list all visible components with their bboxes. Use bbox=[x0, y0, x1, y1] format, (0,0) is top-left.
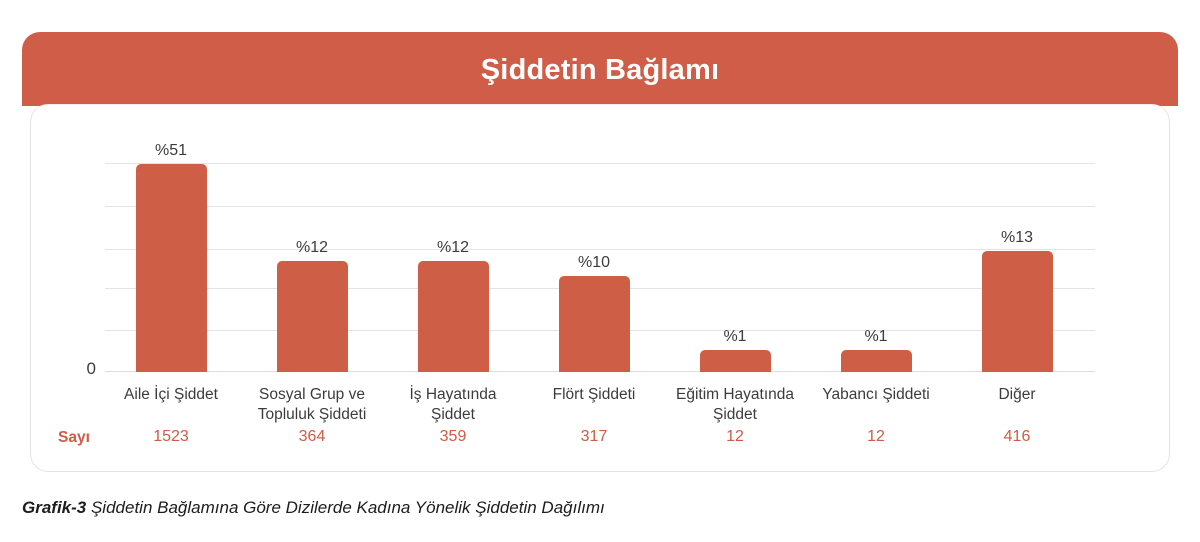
count-value: 416 bbox=[954, 429, 1080, 445]
bar-rect[interactable] bbox=[136, 164, 207, 372]
bar-value-label: %10 bbox=[578, 255, 610, 271]
x-axis-tick-label: Flört Şiddeti bbox=[524, 385, 664, 405]
bar-rect[interactable] bbox=[841, 350, 912, 372]
x-axis-tick-label: İş Hayatında Şiddet bbox=[383, 385, 523, 425]
bar-group[interactable]: %13 bbox=[954, 139, 1080, 372]
count-value: 12 bbox=[672, 429, 798, 445]
x-axis-tick-line: İş Hayatında bbox=[383, 385, 523, 405]
x-axis-tick-label: Aile İçi Şiddet bbox=[101, 385, 241, 405]
bar-group[interactable]: %1 bbox=[672, 139, 798, 372]
bar-value-label: %13 bbox=[1001, 230, 1033, 246]
count-value: 317 bbox=[531, 429, 657, 445]
bar-group[interactable]: %12 bbox=[390, 139, 516, 372]
bar-value-label: %1 bbox=[864, 329, 887, 345]
x-axis-tick-line: Topluluk Şiddeti bbox=[242, 405, 382, 425]
bar-value-label: %1 bbox=[723, 329, 746, 345]
chart-figure: Şiddetin Bağlamı 0 %51 %12 %12 %10 %1 bbox=[0, 0, 1200, 542]
count-value: 1523 bbox=[108, 429, 234, 445]
x-axis-tick-line: Eğitim Hayatında bbox=[665, 385, 805, 405]
page-title: Şiddetin Bağlamı bbox=[481, 56, 719, 85]
bar-group[interactable]: %10 bbox=[531, 139, 657, 372]
count-value: 359 bbox=[390, 429, 516, 445]
x-axis-tick-label: Eğitim Hayatında Şiddet bbox=[665, 385, 805, 425]
x-axis-tick-line: Yabancı Şiddeti bbox=[806, 385, 946, 405]
bar-rect[interactable] bbox=[559, 276, 630, 372]
count-row-label: Sayı bbox=[58, 430, 90, 446]
count-row: 1523 364 359 317 12 12 416 bbox=[105, 429, 1095, 451]
bar-group[interactable]: %12 bbox=[249, 139, 375, 372]
x-axis-tick-label: Sosyal Grup ve Topluluk Şiddeti bbox=[242, 385, 382, 425]
bar-rect[interactable] bbox=[418, 261, 489, 372]
x-axis-tick-line: Şiddet bbox=[665, 405, 805, 425]
bar-value-label: %12 bbox=[296, 240, 328, 256]
bar-series: %51 %12 %12 %10 %1 %1 %13 bbox=[105, 140, 1095, 373]
x-axis-tick-label: Diğer bbox=[947, 385, 1087, 405]
x-axis-tick-line: Şiddet bbox=[383, 405, 523, 425]
x-axis-labels: Aile İçi Şiddet Sosyal Grup ve Topluluk … bbox=[105, 385, 1095, 433]
x-axis-tick-line: Aile İçi Şiddet bbox=[101, 385, 241, 405]
bar-rect[interactable] bbox=[700, 350, 771, 372]
caption-text: Şiddetin Bağlamına Göre Dizilerde Kadına… bbox=[86, 498, 604, 517]
bar-value-label: %51 bbox=[155, 143, 187, 159]
bar-group[interactable]: %1 bbox=[813, 139, 939, 372]
bar-value-label: %12 bbox=[437, 240, 469, 256]
caption-number: Grafik-3 bbox=[22, 498, 86, 517]
count-value: 12 bbox=[813, 429, 939, 445]
x-axis-tick-line: Diğer bbox=[947, 385, 1087, 405]
y-axis-zero-label: 0 bbox=[74, 360, 96, 377]
bar-group[interactable]: %51 bbox=[108, 139, 234, 372]
bar-rect[interactable] bbox=[982, 251, 1053, 372]
bar-rect[interactable] bbox=[277, 261, 348, 372]
figure-caption: Grafik-3 Şiddetin Bağlamına Göre Diziler… bbox=[22, 498, 605, 518]
x-axis-tick-line: Flört Şiddeti bbox=[524, 385, 664, 405]
panel-header: Şiddetin Bağlamı bbox=[22, 32, 1178, 106]
x-axis-tick-line: Sosyal Grup ve bbox=[242, 385, 382, 405]
x-axis-tick-label: Yabancı Şiddeti bbox=[806, 385, 946, 405]
count-value: 364 bbox=[249, 429, 375, 445]
